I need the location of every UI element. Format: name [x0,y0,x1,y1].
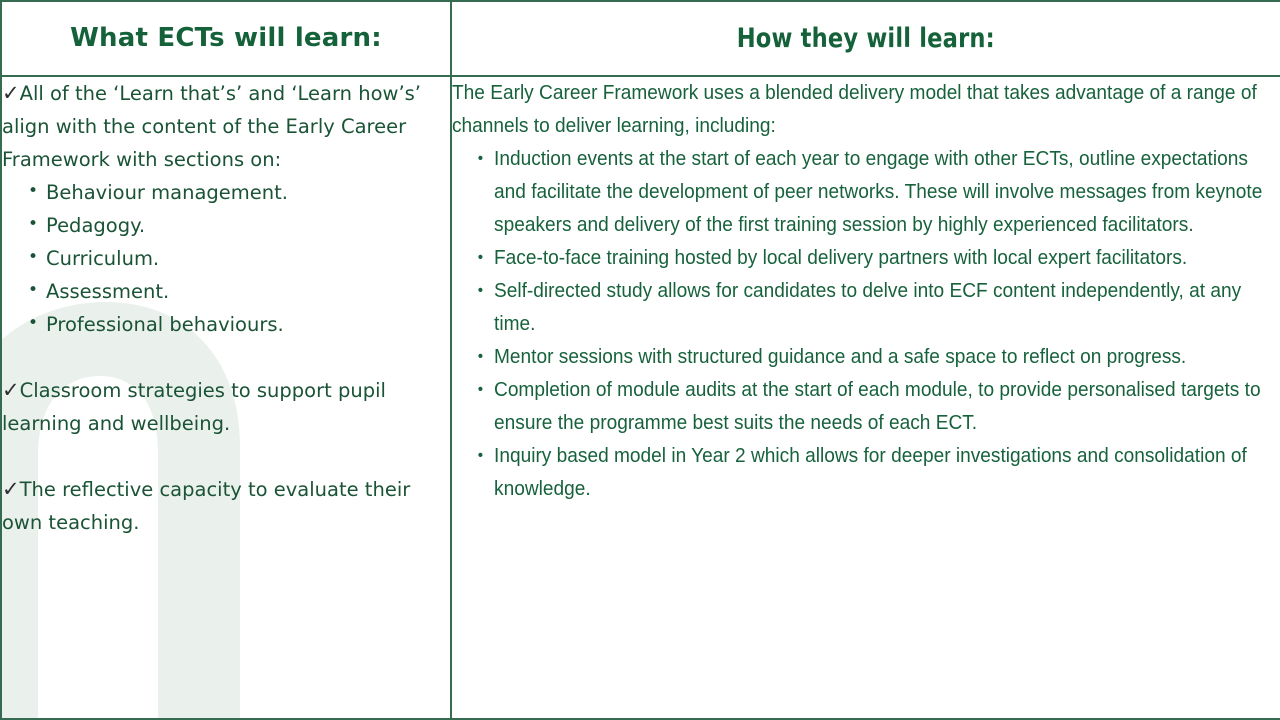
left-bullet-3: Curriculum. [46,247,159,270]
list-item: Self-directed study allows for candidate… [494,275,1269,341]
check-icon: ✓ [2,81,20,105]
spacer-2 [2,440,450,473]
slide-canvas: What ECTs will learn: How they will lear… [0,0,1280,720]
left-bullet-5: Professional behaviours. [46,313,284,336]
list-item: Inquiry based model in Year 2 which allo… [494,440,1269,506]
ect-learning-table: What ECTs will learn: How they will lear… [0,0,1280,720]
list-item: Curriculum. [46,242,450,275]
right-bullet-1: Induction events at the start of each ye… [494,148,1262,236]
list-item: Mentor sessions with structured guidance… [494,341,1269,374]
left-bullet-2: Pedagogy. [46,214,145,237]
right-bullet-4: Mentor sessions with structured guidance… [494,346,1186,368]
body-cell-what-ects-will-learn: ✓All of the ‘Learn that’s’ and ‘Learn ho… [1,76,451,719]
list-item: Behaviour management. [46,176,450,209]
left-check-item-1: ✓All of the ‘Learn that’s’ and ‘Learn ho… [2,77,450,176]
body-cell-how-they-will-learn: The Early Career Framework uses a blende… [451,76,1280,719]
list-item: Professional behaviours. [46,308,450,341]
right-bullet-3: Self-directed study allows for candidate… [494,280,1241,335]
table-body-row: ✓All of the ‘Learn that’s’ and ‘Learn ho… [1,76,1280,719]
left-check-item-3: ✓The reflective capacity to evaluate the… [2,473,450,539]
right-bullet-6: Inquiry based model in Year 2 which allo… [494,445,1247,500]
left-bullet-list: Behaviour management. Pedagogy. Curricul… [2,176,450,341]
check-icon: ✓ [2,477,20,501]
right-bullet-list: Induction events at the start of each ye… [452,143,1274,506]
list-item: Completion of module audits at the start… [494,374,1269,440]
header-title-left: What ECTs will learn: [70,23,382,53]
left-check-item-1-text: All of the ‘Learn that’s’ and ‘Learn how… [2,82,421,171]
list-item: Face-to-face training hosted by local de… [494,242,1269,275]
right-intro-paragraph: The Early Career Framework uses a blende… [452,77,1274,143]
spacer-1 [2,341,450,374]
right-column-content: The Early Career Framework uses a blende… [452,77,1274,506]
header-cell-what-ects-will-learn: What ECTs will learn: [1,1,451,76]
list-item: Pedagogy. [46,209,450,242]
header-cell-how-they-will-learn: How they will learn: [451,1,1280,76]
header-title-right: How they will learn: [737,24,995,54]
left-bullet-1: Behaviour management. [46,181,288,204]
list-item: Assessment. [46,275,450,308]
table-header-row: What ECTs will learn: How they will lear… [1,1,1280,76]
check-icon: ✓ [2,378,20,402]
left-bullet-4: Assessment. [46,280,169,303]
right-bullet-5: Completion of module audits at the start… [494,379,1261,434]
left-column-content: ✓All of the ‘Learn that’s’ and ‘Learn ho… [2,77,450,539]
list-item: Induction events at the start of each ye… [494,143,1269,242]
left-check-item-3-text: The reflective capacity to evaluate thei… [2,478,410,534]
right-bullet-2: Face-to-face training hosted by local de… [494,247,1187,269]
left-check-item-2-text: Classroom strategies to support pupil le… [2,379,386,435]
left-check-item-2: ✓Classroom strategies to support pupil l… [2,374,450,440]
